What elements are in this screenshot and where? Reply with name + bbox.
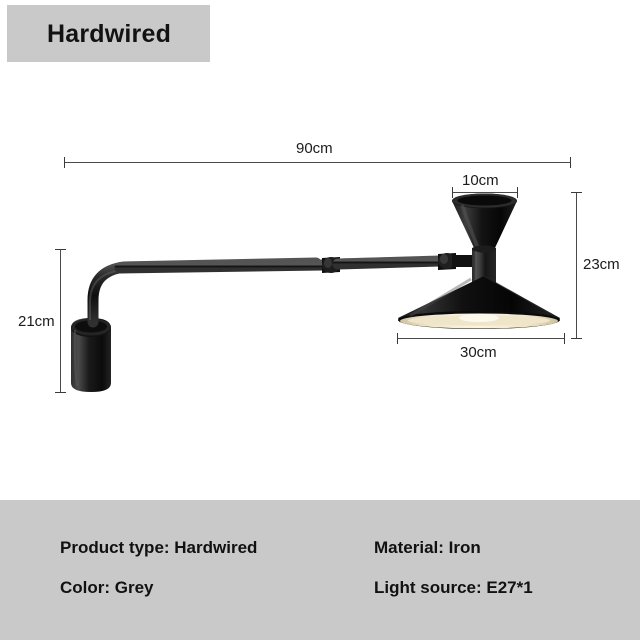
spec-color: Color: Grey (60, 578, 154, 598)
dimension-cap-top-21 (55, 249, 66, 250)
dimension-label-shade-height: 23cm (583, 256, 620, 273)
dimension-cap-right-30 (564, 333, 565, 344)
dimension-line-total-width (64, 162, 570, 163)
spec-product-type: Product type: Hardwired (60, 538, 257, 558)
lamp-dimension-diagram: 90cm 10cm 30cm 23cm 21cm (0, 0, 640, 500)
dimension-cap-bottom-21 (55, 392, 66, 393)
wall-mount-base (71, 318, 111, 392)
dimension-label-bottom-shade: 30cm (460, 344, 497, 361)
dimension-cap-top-23 (571, 192, 582, 193)
dimension-line-bottom-shade (397, 338, 564, 339)
dimension-label-top-cone: 10cm (462, 172, 499, 189)
dimension-cap-right-10 (517, 187, 518, 198)
dimension-line-mount-height (60, 249, 61, 392)
dimension-label-mount-height: 21cm (18, 313, 55, 330)
wall-lamp-illustration (0, 0, 640, 500)
upper-cone-shade (452, 194, 517, 251)
dimension-cap-left-30 (397, 333, 398, 344)
spec-light-source: Light source: E27*1 (374, 578, 533, 598)
product-spec-image: Hardwired (0, 0, 640, 640)
dimension-label-total-width: 90cm (296, 140, 333, 157)
product-spec-panel: Product type: Hardwired Material: Iron C… (0, 500, 640, 640)
dimension-cap-bottom-23 (571, 338, 582, 339)
lower-shade (398, 276, 560, 329)
dimension-line-shade-height (576, 192, 577, 338)
dimension-line-top-cone (452, 192, 518, 193)
dimension-cap-left-90 (64, 157, 65, 168)
dimension-cap-right-90 (570, 157, 571, 168)
spec-material: Material: Iron (374, 538, 481, 558)
dimension-cap-left-10 (452, 187, 453, 198)
